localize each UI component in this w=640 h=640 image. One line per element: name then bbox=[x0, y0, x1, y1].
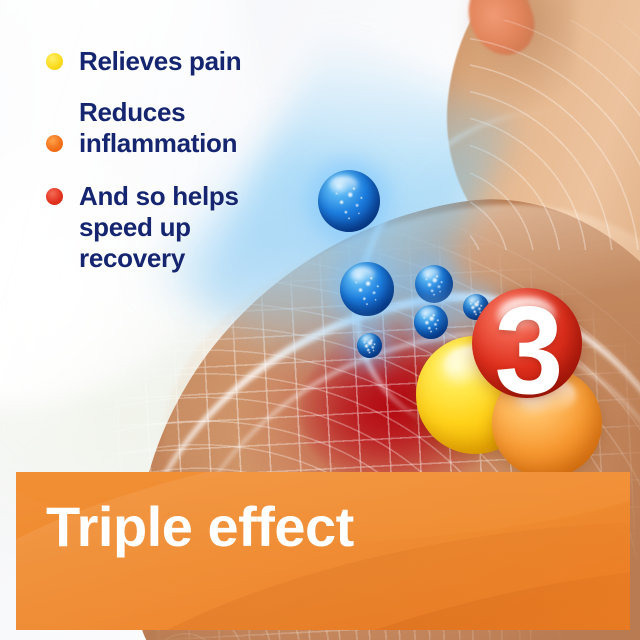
bubble-sparkle-icon bbox=[357, 333, 382, 358]
bullet-item-reduces-inflammation: Reduces inflammation bbox=[46, 97, 336, 159]
banner-headline: Triple effect bbox=[46, 494, 354, 560]
bullet-item-speeds-recovery: And so helps speed up recovery bbox=[46, 181, 336, 274]
bullet-label: And so helps speed up recovery bbox=[79, 181, 239, 274]
ion-bubble-medium-2 bbox=[415, 265, 453, 303]
benefit-bullet-list: Relieves pain Reduces inflammation And s… bbox=[46, 46, 336, 294]
ion-bubble-small-3 bbox=[357, 333, 382, 358]
bubble-sparkle-icon bbox=[340, 262, 394, 316]
ion-bubble-medium-1 bbox=[340, 262, 394, 316]
bubble-sparkle-icon bbox=[415, 265, 453, 303]
bullet-item-relieves-pain: Relieves pain bbox=[46, 46, 336, 77]
bullet-dot-yellow bbox=[46, 53, 63, 70]
bullet-dot-red bbox=[46, 188, 63, 205]
ion-bubble-small-1 bbox=[414, 305, 448, 339]
product-advert-image: 3 Relieves pain Reduces inflammation And… bbox=[0, 0, 640, 640]
badge-number-three: 3 bbox=[468, 288, 588, 420]
bottom-orange-banner: Triple effect bbox=[16, 472, 630, 630]
bullet-label: Reduces inflammation bbox=[79, 97, 237, 159]
bullet-dot-orange bbox=[46, 135, 63, 152]
bullet-label: Relieves pain bbox=[79, 46, 241, 77]
bubble-sparkle-icon bbox=[414, 305, 448, 339]
